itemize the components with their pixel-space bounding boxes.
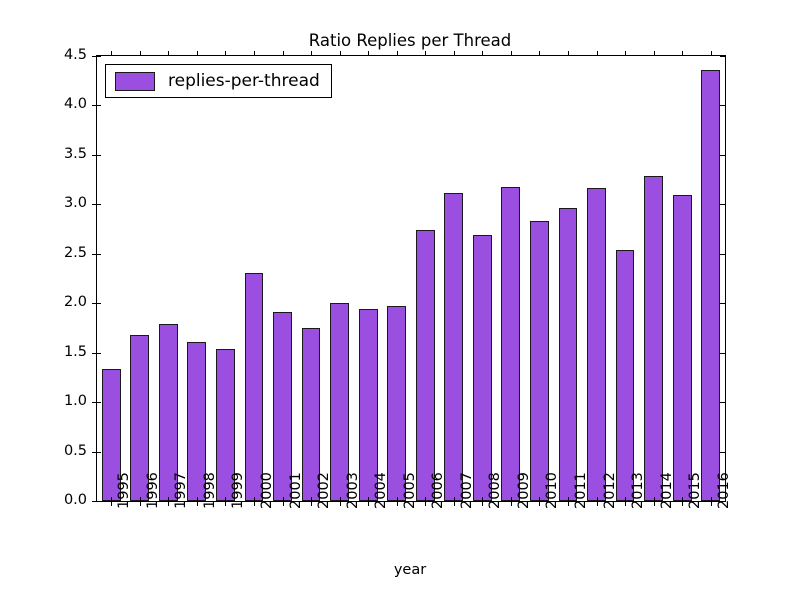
- bar-2010: [530, 221, 549, 501]
- y-tick-mark-inner: [97, 402, 101, 403]
- x-tick-label-1999: 1999: [230, 472, 246, 509]
- x-tick-mark-inner: [368, 497, 369, 501]
- x-tick-mark-top: [111, 51, 112, 56]
- legend-label-replies-per-thread: replies-per-thread: [168, 71, 320, 91]
- x-tick-mark: [539, 501, 540, 506]
- x-tick-mark-top: [568, 51, 569, 56]
- y-tick-mark-right: [720, 402, 725, 403]
- x-tick-mark-top: [397, 51, 398, 56]
- plot-area: [97, 56, 725, 501]
- x-tick-label-2011: 2011: [573, 472, 589, 509]
- x-tick-mark-top: [597, 51, 598, 56]
- x-tick-mark-inner: [625, 497, 626, 501]
- x-tick-mark: [482, 501, 483, 506]
- x-tick-mark-inner: [311, 497, 312, 501]
- x-tick-mark: [111, 501, 112, 506]
- x-tick-mark-top: [140, 51, 141, 56]
- x-tick-mark: [140, 501, 141, 506]
- bar-2006: [416, 230, 435, 501]
- y-tick-mark-right: [720, 155, 725, 156]
- x-tick-mark: [625, 501, 626, 506]
- y-tick-mark-inner: [97, 452, 101, 453]
- x-tick-mark-inner: [168, 497, 169, 501]
- x-tick-label-2010: 2010: [544, 472, 560, 509]
- x-tick-mark-inner: [511, 497, 512, 501]
- x-tick-mark-inner: [482, 497, 483, 501]
- x-tick-mark: [283, 501, 284, 506]
- x-tick-mark-top: [340, 51, 341, 56]
- x-tick-mark-inner: [682, 497, 683, 501]
- bar-2008: [473, 235, 492, 501]
- bar-2000: [245, 273, 264, 501]
- x-tick-mark-top: [311, 51, 312, 56]
- x-tick-mark: [425, 501, 426, 506]
- x-tick-mark: [682, 501, 683, 506]
- x-tick-mark-inner: [340, 497, 341, 501]
- y-tick-label-2.5: 2.5: [41, 245, 87, 261]
- x-tick-mark-top: [654, 51, 655, 56]
- y-tick-label-1.0: 1.0: [41, 393, 87, 409]
- x-tick-mark: [397, 501, 398, 506]
- x-tick-mark-inner: [454, 497, 455, 501]
- bar-2007: [444, 193, 463, 501]
- chart-figure: Ratio Replies per Thread 0.00.51.01.52.0…: [0, 0, 800, 600]
- x-tick-mark-inner: [711, 497, 712, 501]
- x-tick-label-1997: 1997: [173, 472, 189, 509]
- x-tick-label-2005: 2005: [402, 472, 418, 509]
- x-tick-mark-top: [454, 51, 455, 56]
- x-tick-label-2007: 2007: [459, 472, 475, 509]
- y-tick-mark-inner: [97, 501, 101, 502]
- x-tick-label-2004: 2004: [373, 472, 389, 509]
- x-tick-label-2009: 2009: [516, 472, 532, 509]
- x-tick-mark-top: [711, 51, 712, 56]
- y-tick-mark-inner: [97, 254, 101, 255]
- x-tick-mark: [368, 501, 369, 506]
- y-tick-mark-right: [720, 105, 725, 106]
- x-tick-label-2003: 2003: [345, 472, 361, 509]
- y-tick-mark-inner: [97, 353, 101, 354]
- x-tick-mark: [225, 501, 226, 506]
- y-tick-mark-right: [720, 204, 725, 205]
- x-tick-label-1998: 1998: [202, 472, 218, 509]
- y-tick-mark-right: [720, 254, 725, 255]
- x-tick-mark-inner: [568, 497, 569, 501]
- legend-swatch-replies-per-thread: [115, 72, 155, 91]
- x-tick-mark-top: [425, 51, 426, 56]
- x-tick-label-1996: 1996: [145, 472, 161, 509]
- y-tick-mark-right: [720, 56, 725, 57]
- x-tick-mark-inner: [197, 497, 198, 501]
- y-tick-mark-right: [720, 452, 725, 453]
- x-tick-label-2008: 2008: [487, 472, 503, 509]
- x-tick-mark: [711, 501, 712, 506]
- x-tick-label-2014: 2014: [659, 472, 675, 509]
- x-tick-label-2006: 2006: [430, 472, 446, 509]
- plot-axes: 0.00.51.01.52.02.53.03.54.04.5: [96, 55, 726, 502]
- x-tick-mark-top: [625, 51, 626, 56]
- x-tick-mark-inner: [283, 497, 284, 501]
- x-tick-mark-inner: [397, 497, 398, 501]
- x-tick-label-2000: 2000: [259, 472, 275, 509]
- x-tick-mark: [511, 501, 512, 506]
- x-tick-mark: [340, 501, 341, 506]
- y-tick-label-3.5: 3.5: [41, 146, 87, 162]
- x-tick-mark: [254, 501, 255, 506]
- x-tick-mark-inner: [539, 497, 540, 501]
- y-tick-mark-right: [720, 353, 725, 354]
- x-tick-mark-inner: [140, 497, 141, 501]
- x-tick-mark-inner: [254, 497, 255, 501]
- y-tick-mark-inner: [97, 56, 101, 57]
- x-tick-mark-top: [368, 51, 369, 56]
- bar-2011: [559, 208, 578, 501]
- bar-2013: [616, 250, 635, 501]
- bar-2015: [673, 195, 692, 501]
- x-tick-label-2012: 2012: [602, 472, 618, 509]
- y-tick-label-3.0: 3.0: [41, 195, 87, 211]
- x-tick-mark: [168, 501, 169, 506]
- x-tick-mark-inner: [597, 497, 598, 501]
- bar-2014: [644, 176, 663, 501]
- chart-legend: replies-per-thread: [105, 64, 332, 98]
- chart-title: Ratio Replies per Thread: [96, 31, 724, 51]
- x-tick-mark-top: [254, 51, 255, 56]
- y-tick-label-2.0: 2.0: [41, 294, 87, 310]
- y-tick-mark-right: [720, 303, 725, 304]
- x-tick-label-2015: 2015: [687, 472, 703, 509]
- x-tick-label-2001: 2001: [288, 472, 304, 509]
- y-tick-label-4.0: 4.0: [41, 96, 87, 112]
- x-tick-mark: [454, 501, 455, 506]
- x-tick-mark-inner: [654, 497, 655, 501]
- y-tick-label-0.0: 0.0: [41, 492, 87, 508]
- x-tick-mark-top: [225, 51, 226, 56]
- x-tick-mark-top: [283, 51, 284, 56]
- x-tick-label-2016: 2016: [716, 472, 732, 509]
- y-tick-mark-inner: [97, 303, 101, 304]
- x-tick-label-1995: 1995: [116, 472, 132, 509]
- y-tick-label-1.5: 1.5: [41, 344, 87, 360]
- x-axis-label: year: [96, 562, 724, 578]
- y-tick-label-4.5: 4.5: [41, 47, 87, 63]
- x-tick-mark-inner: [425, 497, 426, 501]
- x-tick-mark: [654, 501, 655, 506]
- x-tick-mark-inner: [111, 497, 112, 501]
- y-tick-mark-inner: [97, 105, 101, 106]
- y-tick-label-0.5: 0.5: [41, 443, 87, 459]
- x-tick-mark: [597, 501, 598, 506]
- bar-2012: [587, 188, 606, 501]
- x-tick-mark-top: [482, 51, 483, 56]
- x-tick-mark-top: [682, 51, 683, 56]
- bar-2016: [701, 70, 720, 501]
- x-tick-mark-top: [539, 51, 540, 56]
- bar-2009: [501, 187, 520, 501]
- x-tick-mark-top: [197, 51, 198, 56]
- x-tick-mark-top: [511, 51, 512, 56]
- x-tick-mark-inner: [225, 497, 226, 501]
- x-tick-mark: [311, 501, 312, 506]
- x-tick-mark-top: [168, 51, 169, 56]
- y-tick-mark-inner: [97, 204, 101, 205]
- x-tick-mark: [197, 501, 198, 506]
- x-tick-mark: [568, 501, 569, 506]
- y-tick-mark-inner: [97, 155, 101, 156]
- x-tick-label-2002: 2002: [316, 472, 332, 509]
- x-tick-label-2013: 2013: [630, 472, 646, 509]
